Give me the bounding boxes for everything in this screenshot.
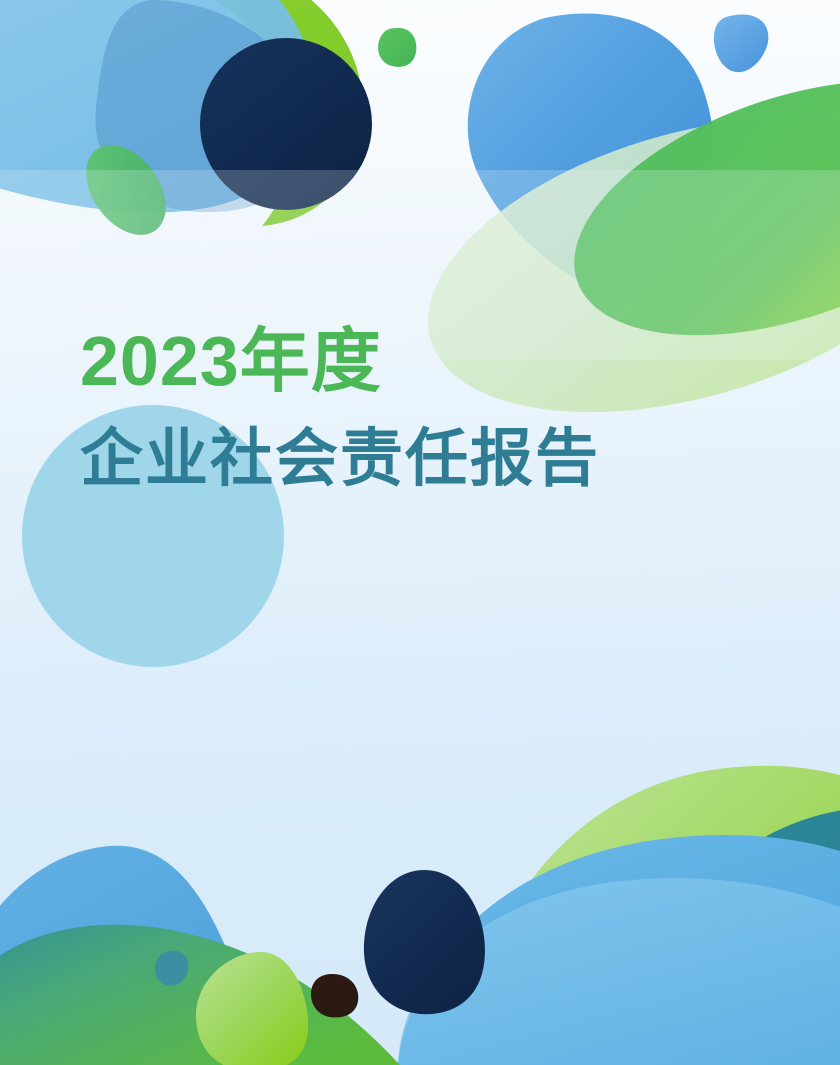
green-dot-shape — [378, 28, 416, 67]
decorative-background-art — [0, 0, 840, 1065]
navy-egg-blob-shape — [364, 870, 485, 1014]
cover-title-year: 2023年度 — [80, 326, 760, 396]
small-blue-blob-shape — [714, 14, 768, 72]
cover-title-block: 2023年度 企业社会责任报告 — [80, 326, 760, 491]
cover-title-main: 企业社会责任报告 — [80, 428, 760, 491]
brown-dot-shape — [311, 974, 358, 1017]
report-cover-page: 2023年度 企业社会责任报告 — [0, 0, 840, 1065]
